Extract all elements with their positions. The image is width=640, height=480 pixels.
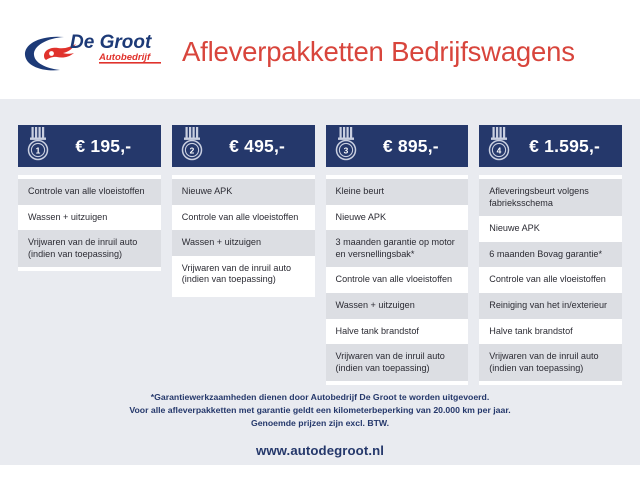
footer-note-2: Voor alle afleverpakketten met garantie … bbox=[0, 404, 640, 417]
feature-item: Controle van alle vloeistoffen bbox=[479, 267, 622, 293]
package-price-2: € 495,- bbox=[206, 136, 315, 157]
package-header-2: 2 € 495,- bbox=[172, 125, 315, 167]
feature-item: Wassen + uitzuigen bbox=[326, 293, 469, 319]
feature-item: Wassen + uitzuigen bbox=[18, 205, 161, 231]
feature-item: Controle van alle vloeistoffen bbox=[172, 205, 315, 231]
feature-item: Nieuwe APK bbox=[172, 179, 315, 205]
website-link[interactable]: www.autodegroot.nl bbox=[0, 443, 640, 458]
logo-subwordmark: Autobedrijf bbox=[98, 52, 151, 63]
package-features-2: Nieuwe APK Controle van alle vloeistoffe… bbox=[172, 175, 315, 297]
package-header-3: 3 € 895,- bbox=[326, 125, 469, 167]
medal-icon: 2 bbox=[179, 127, 206, 163]
package-card-3[interactable]: 3 € 895,- Kleine beurt Nieuwe APK 3 maan… bbox=[326, 125, 469, 385]
medal-rank-2: 2 bbox=[189, 145, 194, 155]
feature-item: Controle van alle vloeistoffen bbox=[18, 179, 161, 205]
package-header-1: 1 € 195,- bbox=[18, 125, 161, 167]
logo-wordmark: De Groot bbox=[70, 32, 152, 53]
feature-item: Halve tank brandstof bbox=[479, 319, 622, 345]
feature-item: Afleveringsbeurt volgens fabrieksschema bbox=[479, 179, 622, 216]
page-footer: *Garantiewerkzaamheden dienen door Autob… bbox=[0, 391, 640, 458]
feature-item: Vrijwaren van de inruil auto (indien van… bbox=[479, 344, 622, 381]
package-features-4: Afleveringsbeurt volgens fabrieksschema … bbox=[479, 175, 622, 385]
package-list: 1 € 195,- Controle van alle vloeistoffen… bbox=[0, 125, 640, 385]
feature-item: 6 maanden Bovag garantie* bbox=[479, 242, 622, 268]
package-features-1: Controle van alle vloeistoffen Wassen + … bbox=[18, 175, 161, 271]
feature-item: Nieuwe APK bbox=[326, 205, 469, 231]
feature-item: Vrijwaren van de inruil auto (indien van… bbox=[326, 344, 469, 381]
medal-icon: 3 bbox=[333, 127, 360, 163]
medal-icon: 1 bbox=[25, 127, 52, 163]
medal-rank-1: 1 bbox=[36, 145, 41, 155]
feature-item: Nieuwe APK bbox=[479, 216, 622, 242]
feature-item: Controle van alle vloeistoffen bbox=[326, 267, 469, 293]
medal-icon: 4 bbox=[486, 127, 513, 163]
footer-note-1: *Garantiewerkzaamheden dienen door Autob… bbox=[0, 391, 640, 404]
package-price-3: € 895,- bbox=[360, 136, 469, 157]
feature-item: Wassen + uitzuigen bbox=[172, 230, 315, 256]
feature-item: Halve tank brandstof bbox=[326, 319, 469, 345]
content-area: 1 € 195,- Controle van alle vloeistoffen… bbox=[0, 99, 640, 465]
package-header-4: 4 € 1.595,- bbox=[479, 125, 622, 167]
package-card-4[interactable]: 4 € 1.595,- Afleveringsbeurt volgens fab… bbox=[479, 125, 622, 385]
company-logo: De Groot Autobedrijf bbox=[18, 27, 168, 75]
footer-note-3: Genoemde prijzen zijn excl. BTW. bbox=[0, 417, 640, 430]
page-header: De Groot Autobedrijf Afleverpakketten Be… bbox=[0, 0, 640, 97]
feature-item: Kleine beurt bbox=[326, 179, 469, 205]
feature-item: Reiniging van het in/exterieur bbox=[479, 293, 622, 319]
package-features-3: Kleine beurt Nieuwe APK 3 maanden garant… bbox=[326, 175, 469, 385]
feature-item: 3 maanden garantie op motor en versnelli… bbox=[326, 230, 469, 267]
feature-item: Vrijwaren van de inruil auto (indien van… bbox=[172, 256, 315, 293]
promo-page: De Groot Autobedrijf Afleverpakketten Be… bbox=[0, 0, 640, 480]
package-card-2[interactable]: 2 € 495,- Nieuwe APK Controle van alle v… bbox=[172, 125, 315, 297]
package-price-4: € 1.595,- bbox=[513, 136, 622, 157]
medal-rank-4: 4 bbox=[497, 145, 502, 155]
medal-rank-3: 3 bbox=[343, 145, 348, 155]
package-price-1: € 195,- bbox=[52, 136, 161, 157]
package-card-1[interactable]: 1 € 195,- Controle van alle vloeistoffen… bbox=[18, 125, 161, 271]
feature-item: Vrijwaren van de inruil auto (indien van… bbox=[18, 230, 161, 267]
page-title: Afleverpakketten Bedrijfswagens bbox=[182, 36, 575, 68]
